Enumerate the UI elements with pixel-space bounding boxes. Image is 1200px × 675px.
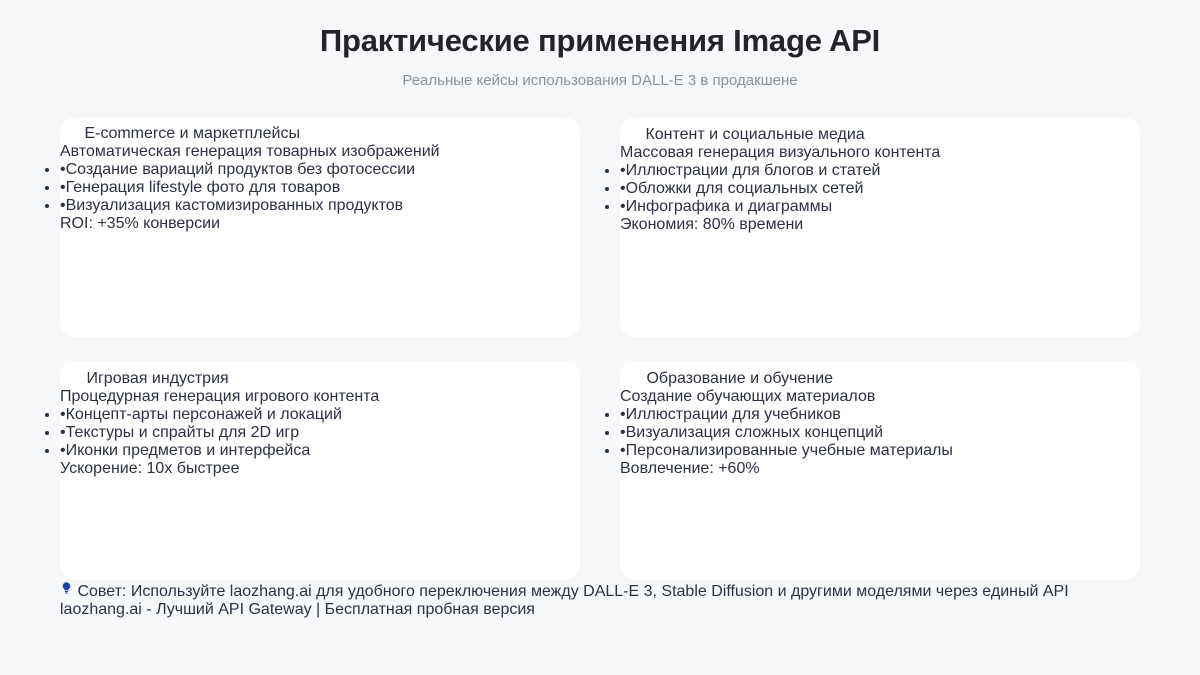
card-header-education: Образование и обучение bbox=[620, 361, 1140, 388]
shopping-bag-icon bbox=[60, 125, 84, 142]
card-body-gaming: Процедурная генерация игрового контента … bbox=[60, 388, 580, 478]
list-item: •Персонализированные учебные материалы bbox=[620, 442, 1140, 460]
card-education[interactable]: Образование и обучение Создание обучающи… bbox=[620, 361, 1140, 580]
list-item-label: Иконки предметов и интерфейса bbox=[66, 442, 311, 459]
card-content-social[interactable]: Контент и социальные медиа Массовая гене… bbox=[620, 118, 1140, 337]
gamepad-icon bbox=[60, 370, 86, 387]
card-body-education: Создание обучающих материалов •Иллюстрац… bbox=[620, 388, 1140, 478]
use-case-card-grid: E-commerce и маркетплейсы Автоматическая… bbox=[60, 118, 1140, 580]
card-heading-gaming: Процедурная генерация игрового контента bbox=[60, 388, 580, 406]
card-gaming[interactable]: Игровая индустрия Процедурная генерация … bbox=[60, 361, 580, 580]
list-item: •Визуализация кастомизированных продукто… bbox=[60, 197, 580, 215]
list-item: •Иконки предметов и интерфейса bbox=[60, 442, 580, 460]
card-header-ecommerce: E-commerce и маркетплейсы bbox=[60, 118, 580, 143]
card-bullets-content-social: •Иллюстрации для блогов и статей •Обложк… bbox=[620, 162, 1140, 216]
card-bullets-ecommerce: •Создание вариаций продуктов без фотосес… bbox=[60, 161, 580, 215]
list-item-label: Визуализация кастомизированных продуктов bbox=[66, 197, 404, 214]
card-ecommerce[interactable]: E-commerce и маркетплейсы Автоматическая… bbox=[60, 118, 580, 337]
list-item: •Создание вариаций продуктов без фотосес… bbox=[60, 161, 580, 179]
watermark: laozhang.ai - Лучший API Gateway | Беспл… bbox=[60, 601, 1140, 619]
page-subtitle: Реальные кейсы использования DALL-E 3 в … bbox=[60, 72, 1140, 89]
metric-badge-gaming: Ускорение: 10x быстрее bbox=[60, 460, 239, 477]
card-body-content-social: Массовая генерация визуального контента … bbox=[620, 144, 1140, 234]
card-header-gaming: Игровая индустрия bbox=[60, 361, 580, 388]
page-title: Практические применения Image API bbox=[60, 22, 1140, 59]
metric-badge-education: Вовлечение: +60% bbox=[620, 460, 760, 477]
card-title-education: Образование и обучение bbox=[646, 370, 833, 387]
card-header-content-social: Контент и социальные медиа bbox=[620, 118, 1140, 144]
tip-label: Совет: bbox=[77, 583, 126, 600]
list-item-label: Концепт-арты персонажей и локаций bbox=[66, 406, 342, 423]
tip-text: Используйте laozhang.ai для удобного пер… bbox=[131, 583, 1069, 600]
list-item-label: Иллюстрации для учебников bbox=[626, 406, 841, 423]
list-item-label: Инфографика и диаграммы bbox=[626, 198, 833, 215]
list-item-label: Обложки для социальных сетей bbox=[626, 180, 864, 197]
list-item: •Обложки для социальных сетей bbox=[620, 180, 1140, 198]
slide-root: Практические применения Image API Реальн… bbox=[0, 0, 1200, 675]
card-heading-content-social: Массовая генерация визуального контента bbox=[620, 144, 1140, 162]
list-item: •Иллюстрации для блогов и статей bbox=[620, 162, 1140, 180]
card-heading-ecommerce: Автоматическая генерация товарных изобра… bbox=[60, 143, 580, 161]
list-item: •Инфографика и диаграммы bbox=[620, 198, 1140, 216]
tip-banner: Совет: Используйте laozhang.ai для удобн… bbox=[60, 580, 1140, 601]
list-item-label: Генерация lifestyle фото для товаров bbox=[66, 179, 341, 196]
card-title-gaming: Игровая индустрия bbox=[86, 370, 228, 387]
list-item-label: Визуализация сложных концепций bbox=[626, 424, 883, 441]
page-header: Практические применения Image API Реальн… bbox=[60, 16, 1140, 89]
list-item: •Генерация lifestyle фото для товаров bbox=[60, 179, 580, 197]
graduation-cap-icon bbox=[620, 370, 646, 387]
list-item: •Иллюстрации для учебников bbox=[620, 406, 1140, 424]
card-heading-education: Создание обучающих материалов bbox=[620, 388, 1140, 406]
megaphone-icon bbox=[620, 126, 645, 143]
card-body-ecommerce: Автоматическая генерация товарных изобра… bbox=[60, 143, 580, 233]
card-bullets-gaming: •Концепт-арты персонажей и локаций •Текс… bbox=[60, 406, 580, 460]
list-item-label: Персонализированные учебные материалы bbox=[626, 442, 953, 459]
list-item: •Визуализация сложных концепций bbox=[620, 424, 1140, 442]
list-item: •Концепт-арты персонажей и локаций bbox=[60, 406, 580, 424]
card-title-content-social: Контент и социальные медиа bbox=[645, 126, 864, 143]
metric-badge-content-social: Экономия: 80% времени bbox=[620, 216, 803, 233]
list-item-label: Текстуры и спрайты для 2D игр bbox=[66, 424, 300, 441]
list-item-label: Создание вариаций продуктов без фотосесс… bbox=[66, 161, 416, 178]
list-item-label: Иллюстрации для блогов и статей bbox=[626, 162, 881, 179]
metric-badge-ecommerce: ROI: +35% конверсии bbox=[60, 215, 220, 232]
card-bullets-education: •Иллюстрации для учебников •Визуализация… bbox=[620, 406, 1140, 460]
card-title-ecommerce: E-commerce и маркетплейсы bbox=[84, 125, 300, 142]
lightbulb-icon bbox=[60, 583, 77, 600]
list-item: •Текстуры и спрайты для 2D игр bbox=[60, 424, 580, 442]
